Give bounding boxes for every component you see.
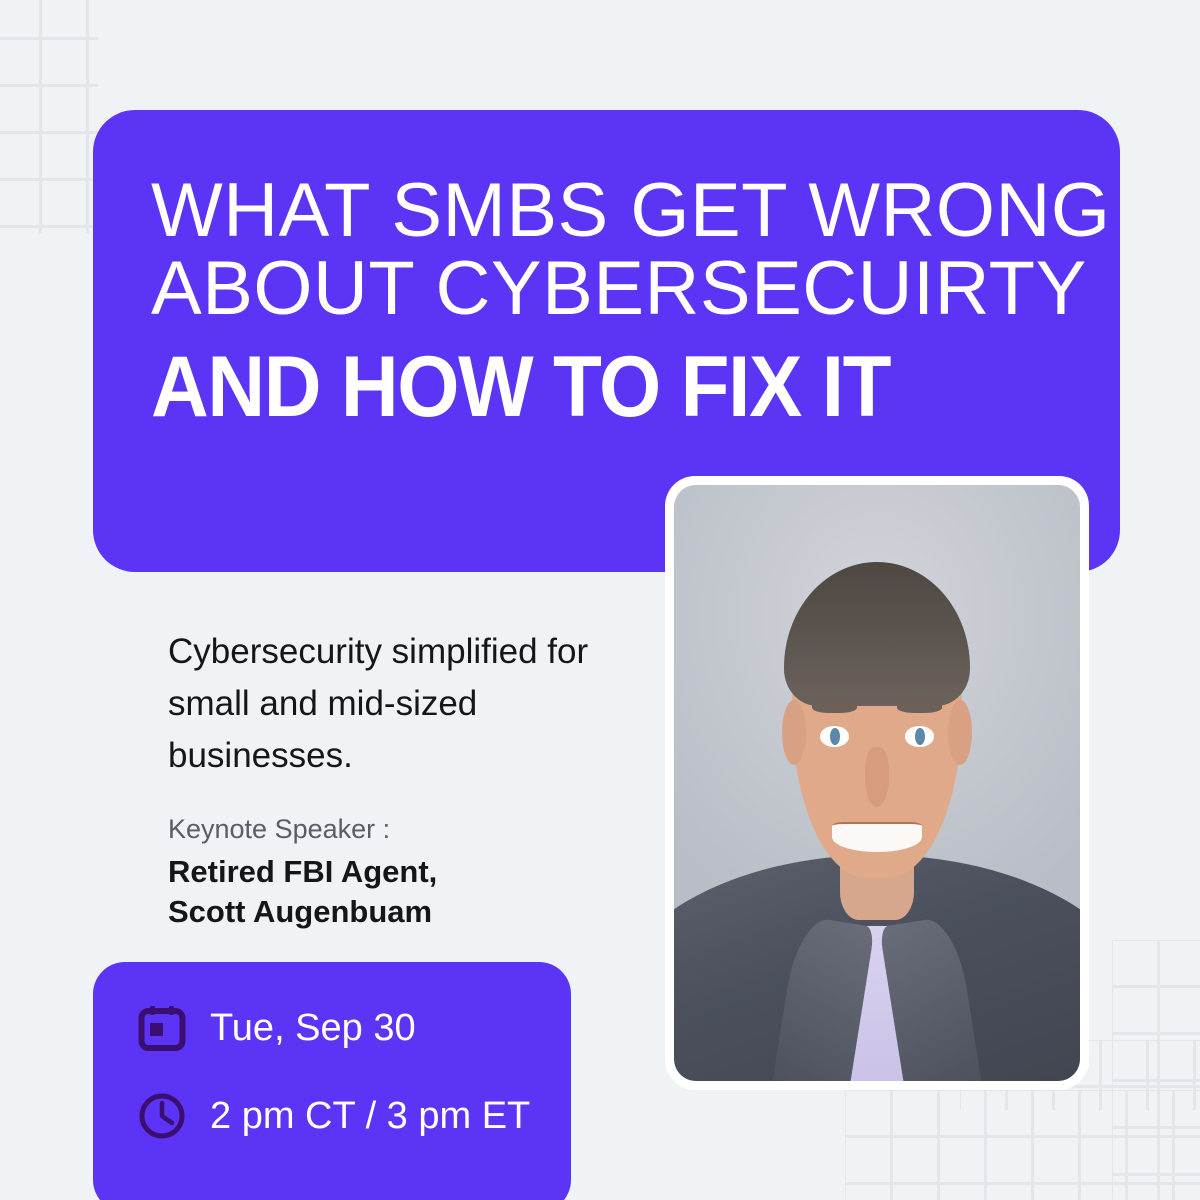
portrait-nose	[865, 747, 889, 807]
portrait-iris-right	[915, 728, 925, 746]
portrait-eyebrow-right	[897, 700, 942, 713]
headline-line-1: WHAT SMBS GET WRONG	[151, 172, 1081, 250]
event-details-card: Tue, Sep 30 2 pm CT / 3 pm ET	[93, 962, 571, 1200]
clock-icon	[138, 1092, 186, 1140]
speaker-name-line: Scott Augenbuam	[168, 894, 432, 929]
portrait-ear-right	[948, 700, 972, 766]
speaker-name: Retired FBI Agent, Scott Augenbuam	[168, 852, 598, 932]
portrait-eye-right	[905, 726, 933, 746]
grid-pattern-bottom-right	[845, 1090, 1200, 1200]
page-title: WHAT SMBS GET WRONG ABOUT CYBERSECUIRTY …	[151, 172, 1081, 432]
speaker-portrait-frame	[665, 476, 1089, 1090]
portrait-eyebrow-left	[812, 700, 857, 713]
portrait-ear-left	[782, 700, 806, 766]
portrait-smile	[832, 822, 921, 852]
event-time-text: 2 pm CT / 3 pm ET	[210, 1092, 530, 1140]
event-date-text: Tue, Sep 30	[210, 1004, 416, 1052]
calendar-icon	[138, 1004, 186, 1052]
headline-line-3: AND HOW TO FIX IT	[151, 342, 1016, 432]
webinar-promo-poster: WHAT SMBS GET WRONG ABOUT CYBERSECUIRTY …	[0, 0, 1200, 1200]
event-time-row: 2 pm CT / 3 pm ET	[138, 1092, 530, 1140]
portrait-eye-left	[820, 726, 848, 746]
speaker-title-line: Retired FBI Agent,	[168, 854, 437, 889]
grid-pattern-right-edge	[1112, 940, 1200, 1200]
keynote-speaker-block: Keynote Speaker : Retired FBI Agent, Sco…	[168, 812, 598, 932]
event-date-row: Tue, Sep 30	[138, 1004, 416, 1052]
portrait-hair	[784, 562, 971, 705]
portrait-iris-left	[830, 728, 840, 746]
headline-line-2: ABOUT CYBERSECUIRTY	[151, 250, 1081, 328]
tagline-text: Cybersecurity simplified for small and m…	[168, 626, 598, 782]
speaker-portrait-photo	[674, 485, 1080, 1081]
speaker-label: Keynote Speaker :	[168, 812, 598, 846]
grid-pattern-top-left	[0, 0, 98, 234]
